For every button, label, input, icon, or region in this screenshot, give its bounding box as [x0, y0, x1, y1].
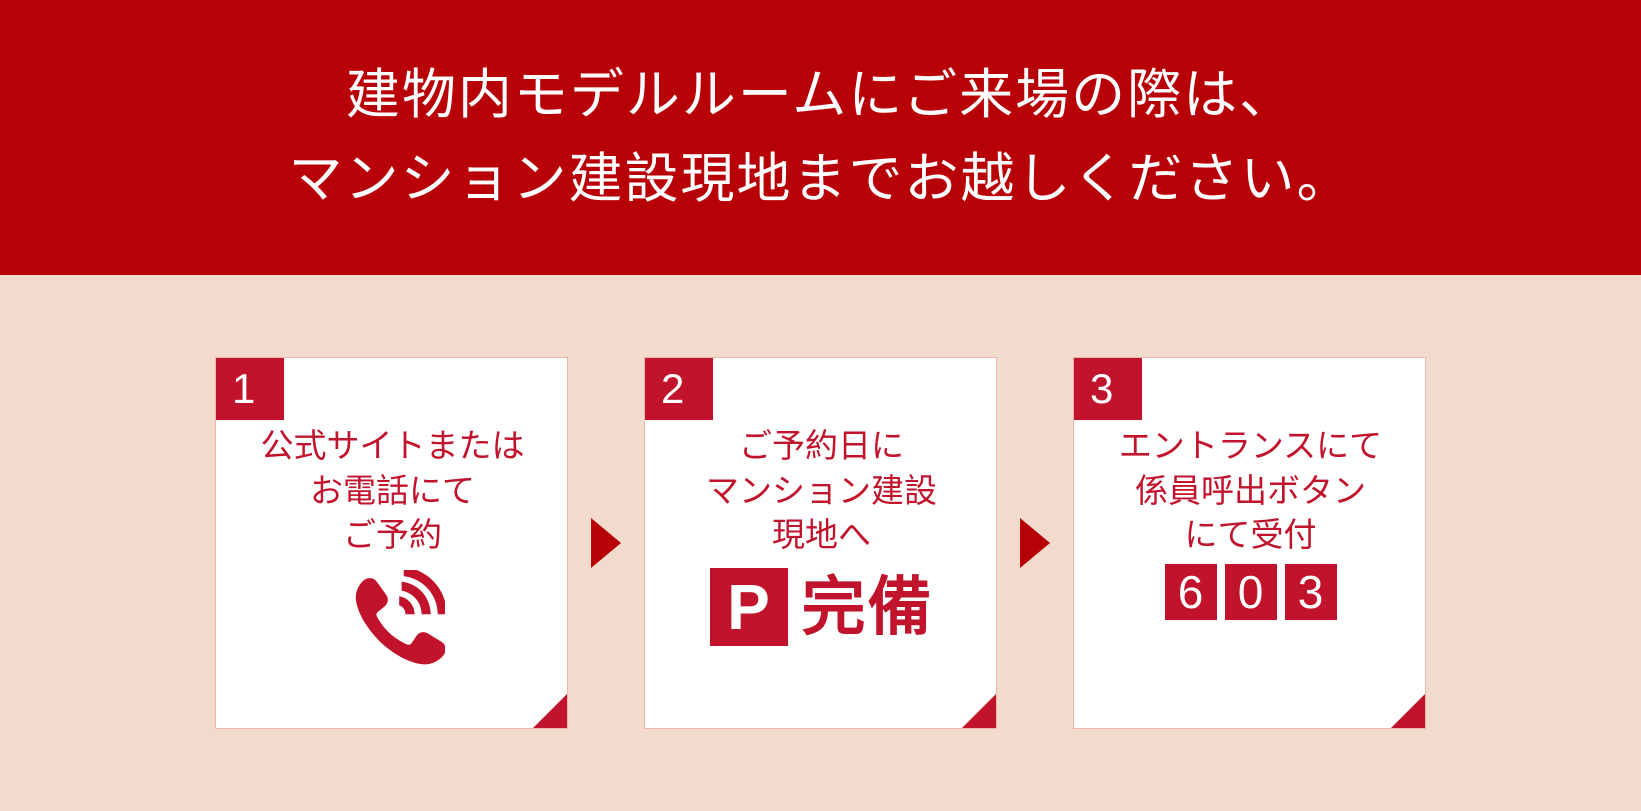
step-text-line-2-1: ご予約日に — [739, 424, 904, 469]
steps-container: 1 公式サイトまたは お電話にて ご予約 2 ご予約日に マンション建設 現地へ… — [0, 275, 1641, 811]
parking-p-mark: P — [710, 568, 788, 646]
step-text-line-1-1: 公式サイトまたは — [261, 424, 525, 469]
banner-line-2: マンション建設現地までお越しください。 — [289, 138, 1353, 222]
step-text-line-3-3: にて受付 — [1185, 513, 1317, 558]
step-card-1: 1 公式サイトまたは お電話にて ご予約 — [215, 357, 568, 729]
card-corner-triangle-3 — [1391, 694, 1425, 728]
room-digit-3: 3 — [1285, 564, 1337, 620]
step-arrow-2 — [1020, 518, 1050, 568]
room-digit-2: 0 — [1225, 564, 1277, 620]
header-banner: 建物内モデルルームにご来場の際は、 マンション建設現地までお越しください。 — [0, 0, 1641, 275]
step-text-line-2-2: マンション建設 — [706, 469, 937, 514]
room-number: 6 0 3 — [1161, 564, 1341, 620]
step-text-line-2-3: 現地へ — [772, 513, 871, 558]
step-text-line-1-2: お電話にて — [310, 469, 475, 514]
step-card-2: 2 ご予約日に マンション建設 現地へ P 完備 — [644, 357, 997, 729]
room-digit-1: 6 — [1165, 564, 1217, 620]
step-text-line-1-3: ご予約 — [343, 513, 442, 558]
step-text-line-3-2: 係員呼出ボタン — [1135, 469, 1366, 514]
step-number-badge-3: 3 — [1074, 358, 1142, 420]
card-corner-triangle-2 — [962, 694, 996, 728]
phone-ringing-icon — [341, 570, 445, 666]
step-arrow-1 — [591, 518, 621, 568]
step-number-badge-2: 2 — [645, 358, 713, 420]
step-card-3: 3 エントランスにて 係員呼出ボタン にて受付 6 0 3 — [1073, 357, 1426, 729]
step-card-body-1: 公式サイトまたは お電話にて ご予約 — [216, 416, 569, 730]
step-text-line-3-1: エントランスにて — [1119, 424, 1382, 469]
step-card-body-3: エントランスにて 係員呼出ボタン にて受付 6 0 3 — [1074, 416, 1427, 730]
step-card-body-2: ご予約日に マンション建設 現地へ P 完備 — [645, 416, 998, 730]
banner-line-1: 建物内モデルルームにご来場の際は、 — [346, 54, 1295, 138]
card-corner-triangle-1 — [533, 694, 567, 728]
step-number-badge-1: 1 — [216, 358, 284, 420]
parking-availability: P 完備 — [710, 568, 934, 646]
parking-label: 完備 — [802, 568, 934, 646]
